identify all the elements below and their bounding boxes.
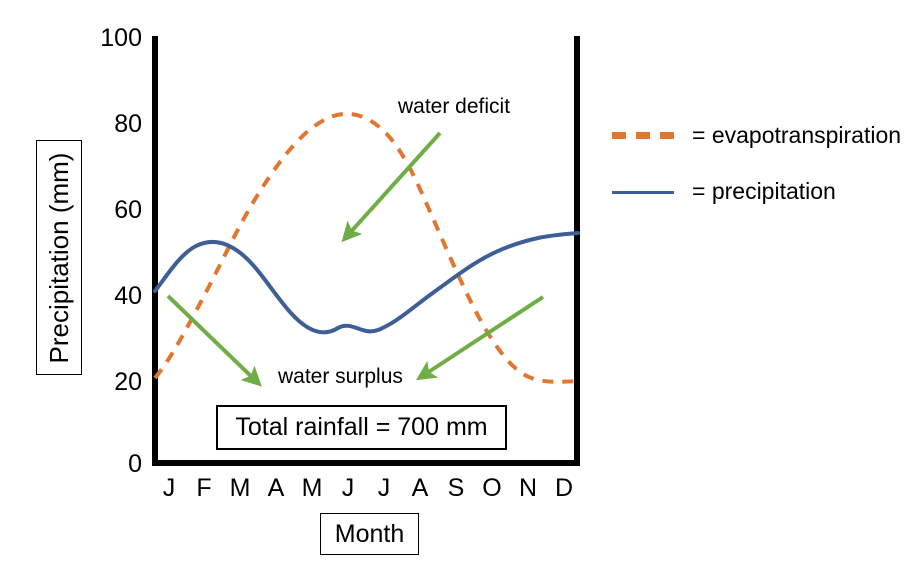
x-axis-tick-labels: J F M A M J J A S O N D	[152, 476, 580, 506]
x-tick-apr: A	[268, 476, 285, 501]
x-tick-jan: J	[163, 476, 176, 501]
y-tick-20: 20	[82, 370, 142, 395]
y-axis-title-box: Precipitation (mm)	[36, 140, 82, 375]
annotation-water-deficit: water deficit	[398, 96, 510, 117]
chart-canvas: 100 80 60 40 20 0 J F M A M J J A S O N …	[0, 0, 908, 578]
chart-legend: = evapotranspiration = precipitation	[612, 122, 902, 234]
x-tick-dec: D	[555, 476, 573, 501]
x-tick-nov: N	[519, 476, 537, 501]
x-tick-feb: F	[196, 476, 211, 501]
x-axis-line	[152, 460, 580, 466]
y-tick-40: 40	[82, 284, 142, 309]
x-tick-aug: A	[412, 476, 429, 501]
x-axis-title: Month	[335, 522, 404, 547]
legend-swatch-solid-line	[612, 191, 674, 194]
x-tick-sep: S	[448, 476, 465, 501]
x-tick-may: M	[302, 476, 323, 501]
x-tick-mar: M	[230, 476, 251, 501]
arrow-water-surplus-left	[168, 296, 255, 380]
y-axis-right-line	[574, 36, 580, 466]
legend-item-precipitation: = precipitation	[612, 178, 902, 234]
series-precipitation	[155, 233, 578, 332]
annotation-water-surplus: water surplus	[278, 366, 403, 387]
legend-label-precipitation: = precipitation	[692, 178, 836, 204]
series-evapotranspiration	[155, 114, 578, 382]
y-tick-60: 60	[82, 198, 142, 223]
y-axis-line	[152, 36, 158, 466]
y-tick-100: 100	[82, 26, 142, 51]
x-axis-title-box: Month	[320, 513, 419, 555]
legend-item-evapotranspiration: = evapotranspiration	[612, 122, 902, 178]
total-rainfall-text: Total rainfall = 700 mm	[235, 415, 487, 440]
legend-swatch-dashed-line	[612, 132, 674, 139]
arrow-water-deficit	[348, 133, 440, 235]
x-tick-jul: J	[378, 476, 391, 501]
x-tick-jun: J	[342, 476, 355, 501]
legend-label-evapotranspiration: = evapotranspiration	[692, 122, 901, 148]
arrow-water-surplus-right	[424, 297, 543, 375]
total-rainfall-callout-box: Total rainfall = 700 mm	[216, 405, 507, 450]
y-axis-title: Precipitation (mm)	[46, 152, 72, 363]
x-tick-oct: O	[482, 476, 501, 501]
y-tick-80: 80	[82, 112, 142, 137]
y-tick-0: 0	[82, 452, 142, 477]
